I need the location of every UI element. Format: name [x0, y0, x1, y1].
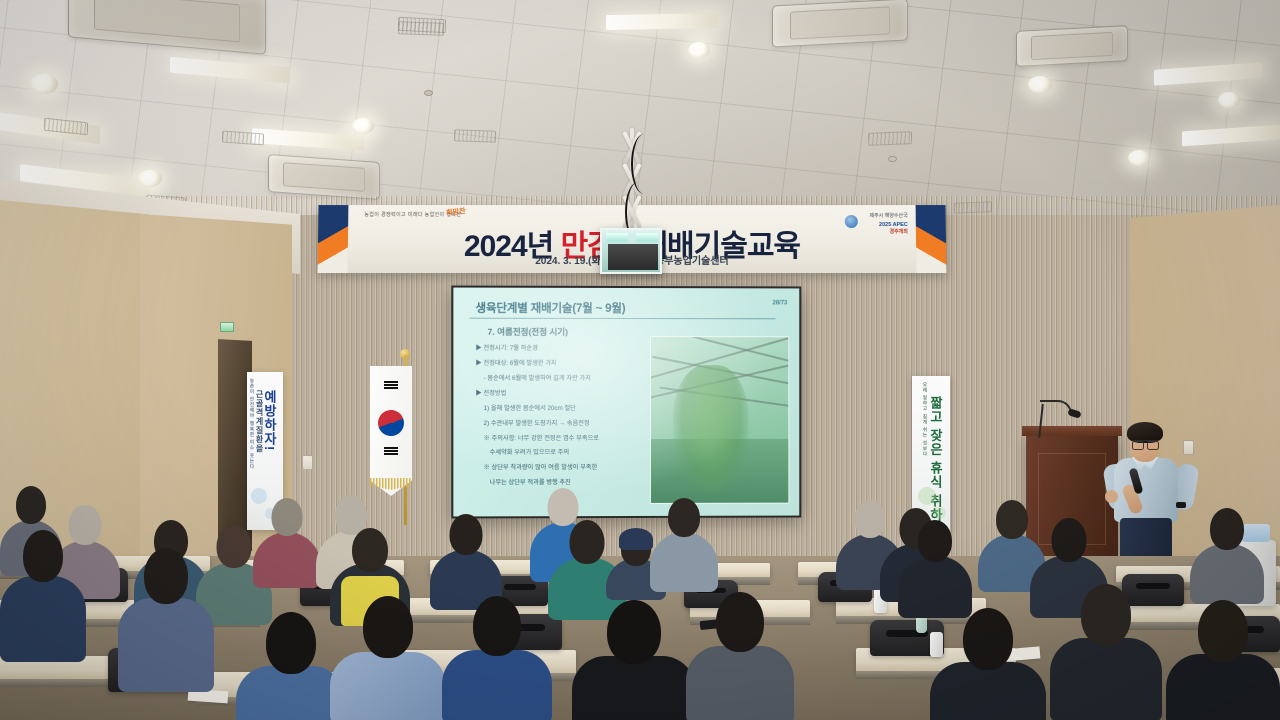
attendee — [118, 548, 214, 688]
banner-logo-line3: 경주개최 — [870, 229, 908, 236]
attendee — [650, 498, 718, 590]
ceiling-air-vent — [398, 21, 444, 36]
attendee-head — [1052, 518, 1087, 562]
slide-bullet: 수세약화 우려가 있으므로 주의 — [476, 448, 644, 458]
attendee-shoulders — [1050, 638, 1162, 720]
attendee-shoulders — [1190, 544, 1264, 604]
attendee-head — [16, 486, 46, 524]
attendee — [430, 514, 502, 608]
attendee-shoulders — [253, 532, 321, 588]
slide-bullet: ▶ 전정방법 — [476, 389, 644, 398]
slide-bullet-list: ▶ 전정시기: 7월 하순경 ▶ 전정대상: 6월에 발생한 가지 - 봄순에서… — [476, 344, 644, 494]
attendee-shoulders — [0, 576, 86, 662]
ceiling-downlight — [30, 74, 58, 94]
attendee-head — [1210, 508, 1244, 550]
attendee-head — [607, 600, 661, 664]
banner-right-logo: 제주시 해양수산국 2025 APEC 경주개최 — [870, 213, 908, 236]
projector-lamp-left — [606, 233, 628, 242]
slide-bullet: - 봄순에서 6월에 발생하여 길게 자란 가지 — [476, 374, 644, 384]
ceiling-air-vent — [868, 131, 912, 146]
projector-lamp-right — [636, 233, 658, 242]
citrus-tree-subject — [673, 365, 749, 493]
exit-sign-icon — [220, 322, 234, 332]
presentation-slide: 생육단계별 재배기술(7월 ~ 9월) 28/73 7. 여름전정(전정 시기)… — [453, 288, 799, 517]
lecture-hall-photo: 농업이 경쟁력이고 미래다 농업인이 행복한 희망찬 2024년 만감류재배기술… — [0, 0, 1280, 720]
attendee-head — [266, 612, 316, 674]
trigram-geon — [384, 380, 398, 390]
attendee-shoulders — [930, 662, 1046, 720]
ceiling-downlight — [688, 42, 710, 58]
projector-scissor-mount — [597, 128, 667, 240]
attendee-head — [473, 596, 521, 656]
ac-cassette-unit — [1016, 25, 1128, 67]
slide-bullet: ※ 상단부 착과량이 많아 여름 발생이 부족한 — [476, 463, 644, 473]
sprinkler-head — [424, 90, 433, 96]
attendee-shoulders — [118, 598, 214, 692]
attendee — [253, 498, 321, 586]
slide-bullet: 1) 올해 발생한 봄순에서 20cm 절단 — [476, 404, 644, 413]
glasses-icon — [1132, 440, 1159, 447]
attendee-shoulders — [442, 650, 552, 720]
banner-seal-icon — [845, 215, 858, 228]
attendee-shoulders — [572, 656, 696, 720]
attendee-head — [23, 530, 63, 582]
ceiling-downlight — [352, 118, 374, 134]
projection-screen: 생육단계별 재배기술(7월 ~ 9월) 28/73 7. 여름전정(전정 시기)… — [451, 286, 801, 519]
attendee — [0, 530, 86, 660]
attendee-head — [363, 596, 413, 658]
ceiling-downlight — [138, 170, 162, 187]
ceiling-downlight — [1028, 76, 1052, 93]
ac-cassette-unit — [268, 154, 380, 200]
attendee-head — [217, 525, 252, 568]
slide-title-underline — [469, 318, 775, 320]
attendee — [1166, 600, 1280, 720]
attendee-head — [996, 500, 1028, 539]
slide-bullet: 나무는 상단부 적과를 병행 추진 — [476, 478, 644, 488]
attendee — [898, 520, 972, 616]
slide-bullet: ▶ 전정시기: 7월 하순경 — [476, 344, 644, 354]
attendee — [572, 600, 696, 720]
attendee-head — [144, 548, 188, 604]
attendee-head — [963, 608, 1013, 670]
roll-banner-left-big-text: 예방하자! — [260, 390, 279, 451]
attendee-shoulders — [686, 646, 794, 720]
attendee-hawaiian-shirt — [330, 596, 446, 720]
bubble-decoration — [918, 487, 936, 505]
ceiling-projector — [600, 228, 662, 274]
attendee-head — [918, 520, 952, 562]
taeguk-symbol — [378, 410, 404, 436]
sprinkler-head — [888, 156, 897, 162]
attendee-head — [1198, 600, 1248, 662]
attendee-head — [570, 520, 605, 564]
slide-bullet: ▶ 전정대상: 6월에 발생한 가지 — [476, 359, 644, 369]
attendee-head — [1081, 584, 1131, 646]
attendee-head — [272, 498, 303, 536]
slide-page-number: 28/73 — [772, 300, 787, 306]
trigram-gon — [384, 446, 398, 456]
attendee — [686, 592, 794, 720]
attendee-head — [352, 528, 388, 572]
attendee — [930, 608, 1046, 720]
ceiling-downlight — [1218, 92, 1240, 108]
attendee-shoulders — [330, 652, 446, 720]
slide-bullet: ※ 주의사항: 너무 강한 전정은 엽수 부족으로 — [476, 434, 644, 444]
slide-title: 생육단계별 재배기술(7월 ~ 9월) — [476, 300, 626, 316]
ceiling-air-vent — [454, 129, 496, 142]
slide-bullet: 2) 수관내부 발생한 도장가지 → 솎음전정 — [476, 419, 644, 429]
banner-logo-line2: 2025 APEC — [870, 221, 908, 229]
attendee-shoulders — [650, 532, 718, 592]
banner-logo-mark: 희망찬 — [446, 206, 466, 218]
slide-section-heading: 7. 여름전정(전정 시기) — [488, 326, 568, 338]
baseball-cap — [619, 528, 653, 550]
ceiling-panel-light — [606, 13, 718, 30]
slide-greenhouse-photo — [650, 336, 789, 504]
banner-logo-line1: 제주시 해양수산국 — [870, 213, 908, 220]
presenter-wristwatch — [1176, 502, 1186, 508]
attendee-head — [716, 592, 764, 652]
projector-body — [608, 244, 658, 270]
attendee — [1190, 508, 1264, 602]
wall-power-outlet[interactable] — [302, 455, 313, 470]
attendee-head — [668, 498, 700, 537]
ceiling-downlight — [1128, 150, 1150, 166]
attendee — [442, 596, 552, 720]
ac-cassette-unit — [772, 0, 908, 48]
attendee — [1050, 584, 1162, 720]
presenter-gesturing-hand — [1105, 490, 1118, 503]
attendee-head — [450, 514, 483, 555]
attendee-shoulders — [1166, 654, 1280, 720]
korean-flag — [370, 366, 412, 496]
